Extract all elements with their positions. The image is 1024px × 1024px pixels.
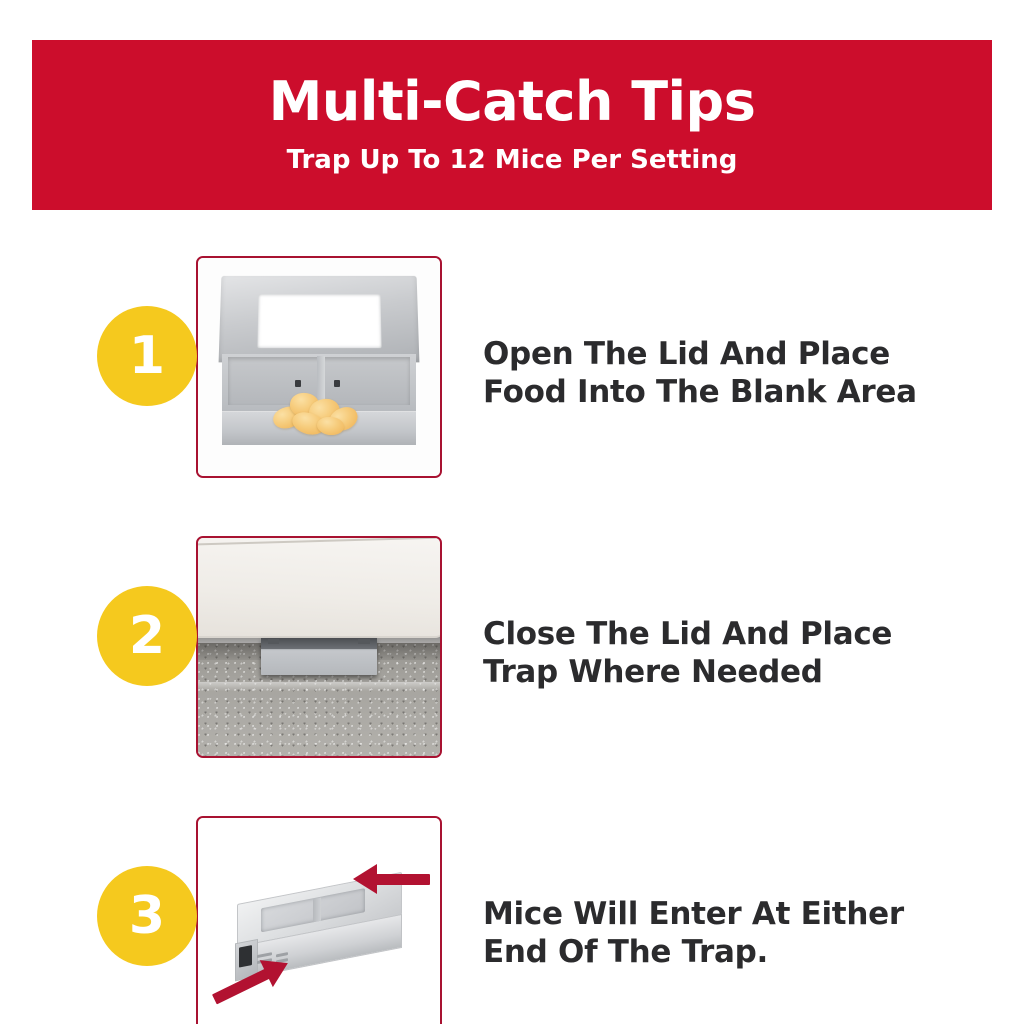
trap-notch-right bbox=[334, 380, 340, 387]
step-caption: Close The Lid And Place Trap Where Neede… bbox=[483, 524, 983, 782]
arrow-head bbox=[353, 864, 377, 894]
caption-line-2: Food Into The Blank Area bbox=[483, 373, 983, 411]
page-title: Multi-Catch Tips bbox=[269, 75, 756, 129]
step-number-badge: 3 bbox=[97, 866, 197, 966]
caption-line-2: Trap Where Needed bbox=[483, 653, 983, 691]
step-number-badge: 2 bbox=[97, 586, 197, 686]
trap-entry-ends-photo bbox=[198, 818, 440, 1024]
caption-line-1: Close The Lid And Place bbox=[483, 615, 983, 653]
open-trap-with-bait-photo bbox=[198, 258, 440, 476]
white-furniture-base bbox=[196, 536, 442, 638]
step-image-frame bbox=[196, 256, 442, 478]
trap-tab-right bbox=[358, 639, 370, 644]
caption-line-2: End Of The Trap. bbox=[483, 933, 983, 971]
step-image-frame bbox=[196, 536, 442, 758]
steps-list: 1 bbox=[0, 210, 1024, 1024]
potato-chip-bait-pile bbox=[271, 389, 368, 437]
page-subtitle: Trap Up To 12 Mice Per Setting bbox=[287, 145, 738, 175]
step-number-label: 2 bbox=[129, 610, 165, 662]
step-number-label: 3 bbox=[129, 890, 165, 942]
entry-arrow-top-icon bbox=[353, 862, 430, 896]
upholstery-seam bbox=[196, 536, 442, 545]
infographic-page: Multi-Catch Tips Trap Up To 12 Mice Per … bbox=[0, 0, 1024, 1024]
step-caption: Mice Will Enter At Either End Of The Tra… bbox=[483, 804, 983, 1024]
trap-tab-left bbox=[268, 639, 280, 644]
arrow-shaft bbox=[375, 874, 431, 885]
step-item: 2 Close The Lid A bbox=[0, 524, 1024, 782]
step-number-badge: 1 bbox=[97, 306, 197, 406]
step-number-label: 1 bbox=[129, 330, 165, 382]
trap-notch-left bbox=[295, 380, 301, 387]
trap-under-furniture-photo bbox=[198, 538, 440, 756]
caption-line-1: Mice Will Enter At Either bbox=[483, 895, 983, 933]
step-image-frame bbox=[196, 816, 442, 1024]
header-banner: Multi-Catch Tips Trap Up To 12 Mice Per … bbox=[32, 40, 992, 210]
step-item: 1 bbox=[0, 244, 1024, 502]
lid-window bbox=[257, 295, 381, 349]
closed-trap bbox=[261, 638, 377, 675]
step-item: 3 bbox=[0, 804, 1024, 1024]
caption-line-1: Open The Lid And Place bbox=[483, 335, 983, 373]
trap-lid bbox=[218, 276, 419, 363]
window-divider bbox=[312, 897, 320, 922]
floor-sheen bbox=[198, 682, 440, 691]
step-caption: Open The Lid And Place Food Into The Bla… bbox=[483, 244, 983, 502]
